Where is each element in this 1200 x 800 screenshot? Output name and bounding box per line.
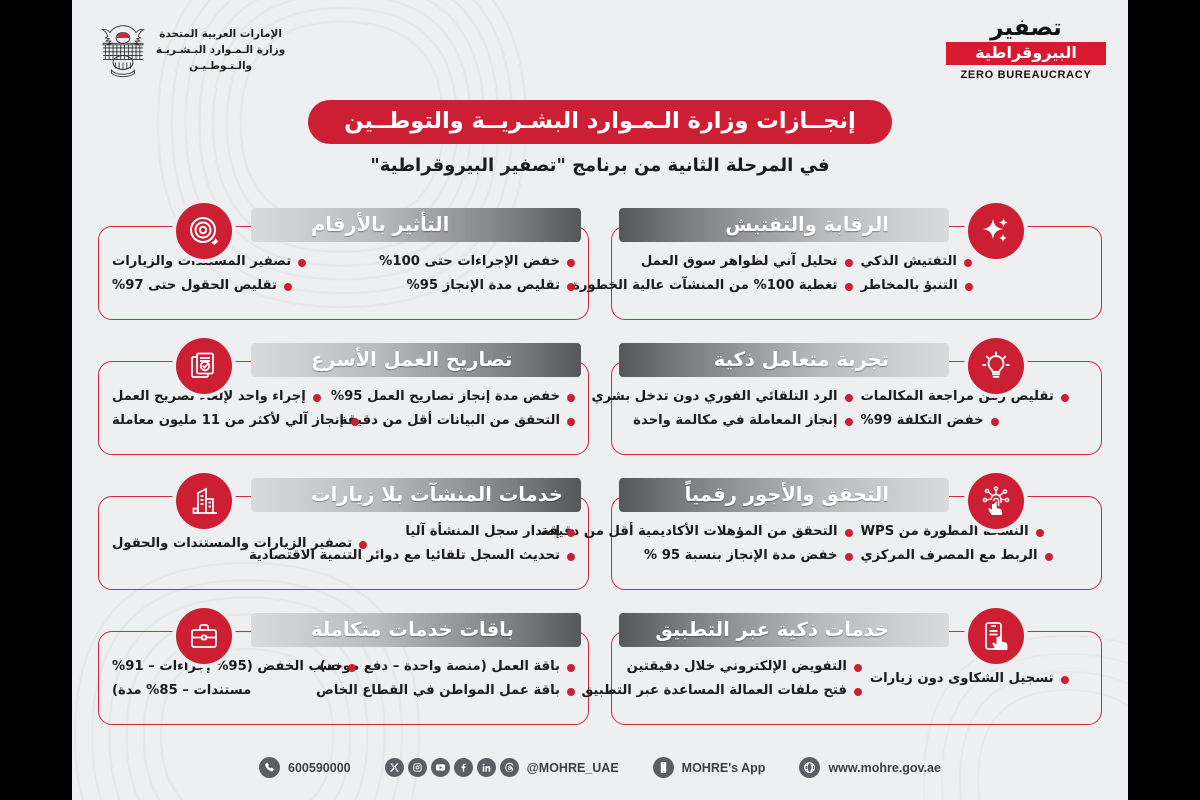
bullet-text: تقليص مدة الإنجاز 95% — [407, 278, 560, 295]
app-item[interactable]: MOHRE's App — [653, 757, 766, 778]
bullets-outer: تصفير الزيارات والمستندات والحقول — [108, 524, 334, 564]
bullet-item: النسخة المطورة من WPS — [857, 524, 1093, 541]
bullet-item: تقليص الحقول حتى 97% — [108, 278, 344, 295]
bullets-outer: تصفير المستندات والزيارات تقليص الحقول ح… — [108, 254, 344, 294]
bullet-item: تصفير الزيارات والمستندات والحقول — [108, 536, 334, 553]
bullet-item: مستندات – 85% مدة) — [108, 683, 344, 700]
bullet-dot-icon — [854, 688, 862, 696]
bullet-text: خفض مدة الإنجاز بنسبة 95 % — [644, 548, 838, 565]
bullet-item: نسب الخفض (95% إجراءات – 91% — [108, 659, 344, 676]
bullet-dot-icon — [567, 394, 575, 402]
threads-icon[interactable] — [500, 758, 519, 777]
bullet-text: تصفير الزيارات والمستندات والحقول — [112, 536, 352, 553]
ministry-line-3: والـتـوطـيـن — [156, 59, 285, 75]
bullet-text: تقليص زمن مراجعة المكالمات — [861, 389, 1054, 406]
bullet-item: خفض التكلفة 99% — [857, 413, 1093, 430]
card-establishment-services-no-visits[interactable]: خدمات المنشآت بلا زيارات إصدار سجل المنش… — [98, 478, 589, 590]
card-digital-verification-wages[interactable]: التحقق والأجور رقمياً النسخة المطورة من … — [611, 478, 1102, 590]
title-block: إنجــازات وزارة الـمـوارد البشـريــة وال… — [72, 100, 1128, 176]
website-label: www.mohre.gov.ae — [828, 761, 941, 775]
bullets-inner: الرد التلقائي الفوري دون تدخل بشري إنجاز… — [621, 389, 857, 429]
bullet-item: تصفير المستندات والزيارات — [108, 254, 344, 271]
bullet-text: تغطية 100% من المنشآت عالية الخطورة — [572, 278, 837, 295]
bullet-text: الربط مع المصرف المركزي — [861, 548, 1038, 565]
bullets-outer: إجراء واحد لإلغاء تصريح العمل إنجاز آلي … — [108, 389, 344, 429]
page-subtitle: في المرحلة الثانية من برنامج "تصفير البي… — [72, 155, 1128, 176]
bullet-dot-icon — [854, 664, 862, 672]
card-bullets: تسجيل الشكاوى دون زيارات التفويض الإلكتر… — [621, 659, 1092, 699]
bullet-item: الربط مع المصرف المركزي — [857, 548, 1093, 565]
social-handle: @MOHRE_UAE — [527, 761, 619, 775]
bullet-item: تقليص مدة الإنجاز 95% — [344, 278, 580, 295]
bullet-dot-icon — [567, 688, 575, 696]
bullet-dot-icon — [351, 418, 359, 426]
bullet-item: التحقق من المؤهلات الأكاديمية أقل من دقي… — [621, 524, 857, 541]
globe-icon — [799, 757, 820, 778]
bullets-outer: نسب الخفض (95% إجراءات – 91% مستندات – 8… — [108, 659, 344, 699]
ministry-name: الإمارات العربية المتحدة وزارة الـمـوارد… — [156, 27, 285, 74]
bullet-dot-icon — [313, 394, 321, 402]
card-banner: خدمات المنشآت بلا زيارات — [251, 478, 581, 512]
bullet-dot-icon — [1061, 394, 1069, 402]
target-arrow-icon — [176, 203, 232, 259]
bullet-dot-icon — [964, 259, 972, 267]
digital-fingerprint-icon — [968, 473, 1024, 529]
bullet-item: إنجاز آلي لأكثر من 11 مليون معاملة — [108, 413, 344, 430]
bullet-dot-icon — [845, 283, 853, 291]
bullet-text: إنجاز آلي لأكثر من 11 مليون معاملة — [112, 413, 344, 430]
poster-stage: الإمارات العربية المتحدة وزارة الـمـوارد… — [0, 0, 1200, 800]
bullet-text: إنجاز المعاملة في مكالمة واحدة — [633, 413, 837, 430]
bullet-dot-icon — [567, 259, 575, 267]
bullets-inner: باقة العمل (منصة واحدة – دفع موحد) باقة … — [344, 659, 580, 699]
bullet-dot-icon — [298, 259, 306, 267]
bullet-dot-icon — [567, 418, 575, 426]
bullet-item: تقليص زمن مراجعة المكالمات — [857, 389, 1093, 406]
card-title: تصاريح العمل الأسرع — [311, 350, 512, 370]
bullet-dot-icon — [845, 394, 853, 402]
bullet-dot-icon — [567, 553, 575, 561]
letterbox-left — [0, 0, 72, 800]
card-inspection[interactable]: الرقابة والتفتيش التفتيش الذكي التنبؤ با… — [611, 208, 1102, 320]
linkedin-icon[interactable] — [477, 758, 496, 777]
card-banner: الرقابة والتفتيش — [619, 208, 949, 242]
card-bullets: التفتيش الذكي التنبؤ بالمخاطر تحليل آني … — [621, 254, 1092, 294]
bullet-item: تسجيل الشكاوى دون زيارات — [866, 671, 1092, 688]
bullet-dot-icon — [845, 418, 853, 426]
card-title: التأثير بالأرقام — [311, 215, 449, 235]
bullet-dot-icon — [991, 418, 999, 426]
bullet-text: تقليص الحقول حتى 97% — [112, 278, 277, 295]
bullet-item: فتح ملفات العمالة المساعدة عبر التطبيق — [621, 683, 866, 700]
card-banner: تجربة متعامل ذكية — [619, 343, 949, 377]
phone-item[interactable]: 600590000 — [259, 757, 351, 778]
bullet-text: إصدار سجل المنشأة آليا — [405, 524, 560, 541]
card-bullets: خفض مدة إنجاز تصاريح العمل 95% التحقق من… — [108, 389, 579, 429]
website-item[interactable]: www.mohre.gov.ae — [799, 757, 941, 778]
bullet-dot-icon — [845, 259, 853, 267]
bullets-inner: خفض مدة إنجاز تصاريح العمل 95% التحقق من… — [344, 389, 580, 429]
bullets-inner: التفويض الإلكتروني خلال دقيقتين فتح ملفا… — [621, 659, 866, 699]
bullet-dot-icon — [567, 283, 575, 291]
card-title: التحقق والأجور رقمياً — [685, 485, 889, 505]
bullet-text: التفويض الإلكتروني خلال دقيقتين — [627, 659, 847, 676]
bullet-dot-icon — [1036, 529, 1044, 537]
card-banner: التحقق والأجور رقمياً — [619, 478, 949, 512]
mobile-tap-icon — [968, 608, 1024, 664]
social-icons[interactable] — [385, 758, 519, 777]
ministry-logo: الإمارات العربية المتحدة وزارة الـمـوارد… — [100, 22, 285, 80]
phone-number: 600590000 — [288, 761, 351, 775]
lightbulb-icon — [968, 338, 1024, 394]
app-label: MOHRE's App — [682, 761, 766, 775]
card-smart-customer-experience[interactable]: تجربة متعامل ذكية تقليص زمن مراجعة المكا… — [611, 343, 1102, 455]
card-title: خدمات ذكية عبر التطبيق — [655, 620, 889, 640]
bullets-inner: إصدار سجل المنشأة آليا تحديث السجل تلقائ… — [334, 524, 579, 564]
bullets-inner: التحقق من المؤهلات الأكاديمية أقل من دقي… — [621, 524, 857, 564]
bullet-item: التحقق من البيانات أقل من دقيقة — [344, 413, 580, 430]
bullet-item: باقة العمل (منصة واحدة – دفع موحد) — [344, 659, 580, 676]
bullet-text: خفض الإجراءات حتى 100% — [379, 254, 560, 271]
briefcase-icon — [176, 608, 232, 664]
zb-arabic-badge: البيروقراطية — [946, 42, 1106, 65]
bullet-text: التفتيش الذكي — [861, 254, 957, 271]
zero-bureaucracy-logo: تصفير البيروقراطية ZERO BUREAUCRACY — [946, 16, 1106, 81]
bullet-item: إصدار سجل المنشأة آليا — [334, 524, 579, 541]
x-twitter-icon[interactable] — [385, 758, 404, 777]
card-title: الرقابة والتفتيش — [725, 215, 889, 235]
bullet-item: خفض الإجراءات حتى 100% — [344, 254, 580, 271]
bullets-outer: تقليص زمن مراجعة المكالمات خفض التكلفة 9… — [857, 389, 1093, 429]
bullets-inner: خفض الإجراءات حتى 100% تقليص مدة الإنجاز… — [344, 254, 580, 294]
bullet-text: مستندات – 85% مدة) — [112, 683, 251, 700]
letterbox-right — [1128, 0, 1200, 800]
card-banner: خدمات ذكية عبر التطبيق — [619, 613, 949, 647]
cards-grid: الرقابة والتفتيش التفتيش الذكي التنبؤ با… — [98, 186, 1102, 726]
card-title: خدمات المنشآت بلا زيارات — [311, 485, 563, 505]
bullet-dot-icon — [348, 664, 356, 672]
bullet-dot-icon — [567, 664, 575, 672]
ministry-line-1: الإمارات العربية المتحدة — [156, 27, 285, 43]
bullet-dot-icon — [845, 553, 853, 561]
card-bullets: باقة العمل (منصة واحدة – دفع موحد) باقة … — [108, 659, 579, 699]
bullet-dot-icon — [1045, 553, 1053, 561]
bullet-item: التنبؤ بالمخاطر — [857, 278, 1093, 295]
poster-footer: www.mohre.gov.ae MOHRE's App @MOHRE_UAE — [72, 757, 1128, 778]
bullet-text: التنبؤ بالمخاطر — [861, 278, 958, 295]
uae-falcon-emblem-icon — [100, 22, 146, 80]
card-bullets: خفض الإجراءات حتى 100% تقليص مدة الإنجاز… — [108, 254, 579, 294]
phone-icon — [259, 757, 280, 778]
card-title: تجربة متعامل ذكية — [714, 350, 889, 370]
bullet-item: إنجاز المعاملة في مكالمة واحدة — [621, 413, 857, 430]
bullet-dot-icon — [284, 283, 292, 291]
bullet-item: تغطية 100% من المنشآت عالية الخطورة — [621, 278, 857, 295]
bullet-dot-icon — [1061, 676, 1069, 684]
facebook-icon[interactable] — [454, 758, 473, 777]
bullet-dot-icon — [359, 541, 367, 549]
bullet-text: فتح ملفات العمالة المساعدة عبر التطبيق — [581, 683, 846, 700]
mobile-app-icon — [653, 757, 674, 778]
bullet-item: الرد التلقائي الفوري دون تدخل بشري — [621, 389, 857, 406]
bullets-inner: تحليل آني لظواهر سوق العمل تغطية 100% من… — [621, 254, 857, 294]
document-check-icon — [176, 338, 232, 394]
card-bullets: إصدار سجل المنشأة آليا تحديث السجل تلقائ… — [108, 524, 579, 564]
bullet-item: إجراء واحد لإلغاء تصريح العمل — [108, 389, 344, 406]
bullet-text: تسجيل الشكاوى دون زيارات — [870, 671, 1054, 688]
poster-canvas: الإمارات العربية المتحدة وزارة الـمـوارد… — [72, 0, 1128, 800]
instagram-icon[interactable] — [408, 758, 427, 777]
bullets-outer: النسخة المطورة من WPS الربط مع المصرف ال… — [857, 524, 1093, 564]
card-bullets: النسخة المطورة من WPS الربط مع المصرف ال… — [621, 524, 1092, 564]
bullet-item: خفض مدة الإنجاز بنسبة 95 % — [621, 548, 857, 565]
bullet-text: باقة عمل المواطن في القطاع الخاص — [316, 683, 560, 700]
bullet-item: تحديث السجل تلقائيا مع دوائر التنمية الا… — [334, 548, 579, 565]
card-integrated-service-packages[interactable]: باقات خدمات متكاملة باقة العمل (منصة واح… — [98, 613, 589, 725]
card-faster-work-permits[interactable]: تصاريح العمل الأسرع خفض مدة إنجاز تصاريح… — [98, 343, 589, 455]
card-banner: باقات خدمات متكاملة — [251, 613, 581, 647]
bullets-outer: تسجيل الشكاوى دون زيارات — [866, 659, 1092, 699]
card-title: باقات خدمات متكاملة — [311, 620, 514, 640]
zb-arabic-top: تصفير — [946, 16, 1106, 40]
bullets-outer: التفتيش الذكي التنبؤ بالمخاطر — [857, 254, 1093, 294]
bullet-text: تحليل آني لظواهر سوق العمل — [641, 254, 838, 271]
bullet-text: نسب الخفض (95% إجراءات – 91% — [112, 659, 341, 676]
card-bullets: تقليص زمن مراجعة المكالمات خفض التكلفة 9… — [621, 389, 1092, 429]
bullet-text: خفض التكلفة 99% — [861, 413, 984, 430]
bullet-item: باقة عمل المواطن في القطاع الخاص — [344, 683, 580, 700]
card-smart-app-services[interactable]: خدمات ذكية عبر التطبيق تسجيل الشكاوى دون… — [611, 613, 1102, 725]
page-title: إنجــازات وزارة الـمـوارد البشـريــة وال… — [308, 100, 892, 144]
youtube-icon[interactable] — [431, 758, 450, 777]
bullet-text: التحقق من البيانات أقل من دقيقة — [340, 413, 560, 430]
bullet-text: التحقق من المؤهلات الأكاديمية أقل من دقي… — [541, 524, 837, 541]
card-banner: تصاريح العمل الأسرع — [251, 343, 581, 377]
card-banner: التأثير بالأرقام — [251, 208, 581, 242]
ministry-line-2: وزارة الـمـوارد البـشـريـة — [156, 43, 285, 59]
bullet-dot-icon — [965, 283, 973, 291]
card-impact-numbers[interactable]: التأثير بالأرقام خفض الإجراءات حتى 100% … — [98, 208, 589, 320]
bullet-text: خفض مدة إنجاز تصاريح العمل 95% — [331, 389, 560, 406]
bullet-dot-icon — [845, 529, 853, 537]
bullet-item: التفويض الإلكتروني خلال دقيقتين — [621, 659, 866, 676]
bullet-item: خفض مدة إنجاز تصاريح العمل 95% — [344, 389, 580, 406]
bullet-item: تحليل آني لظواهر سوق العمل — [621, 254, 857, 271]
sparkle-icon — [968, 203, 1024, 259]
building-icon — [176, 473, 232, 529]
zb-english-label: ZERO BUREAUCRACY — [946, 69, 1106, 81]
social-item[interactable]: @MOHRE_UAE — [385, 758, 619, 777]
bullet-text: الرد التلقائي الفوري دون تدخل بشري — [591, 389, 837, 406]
bullet-item: التفتيش الذكي — [857, 254, 1093, 271]
bullet-dot-icon — [567, 529, 575, 537]
poster-header: الإمارات العربية المتحدة وزارة الـمـوارد… — [72, 0, 1128, 100]
